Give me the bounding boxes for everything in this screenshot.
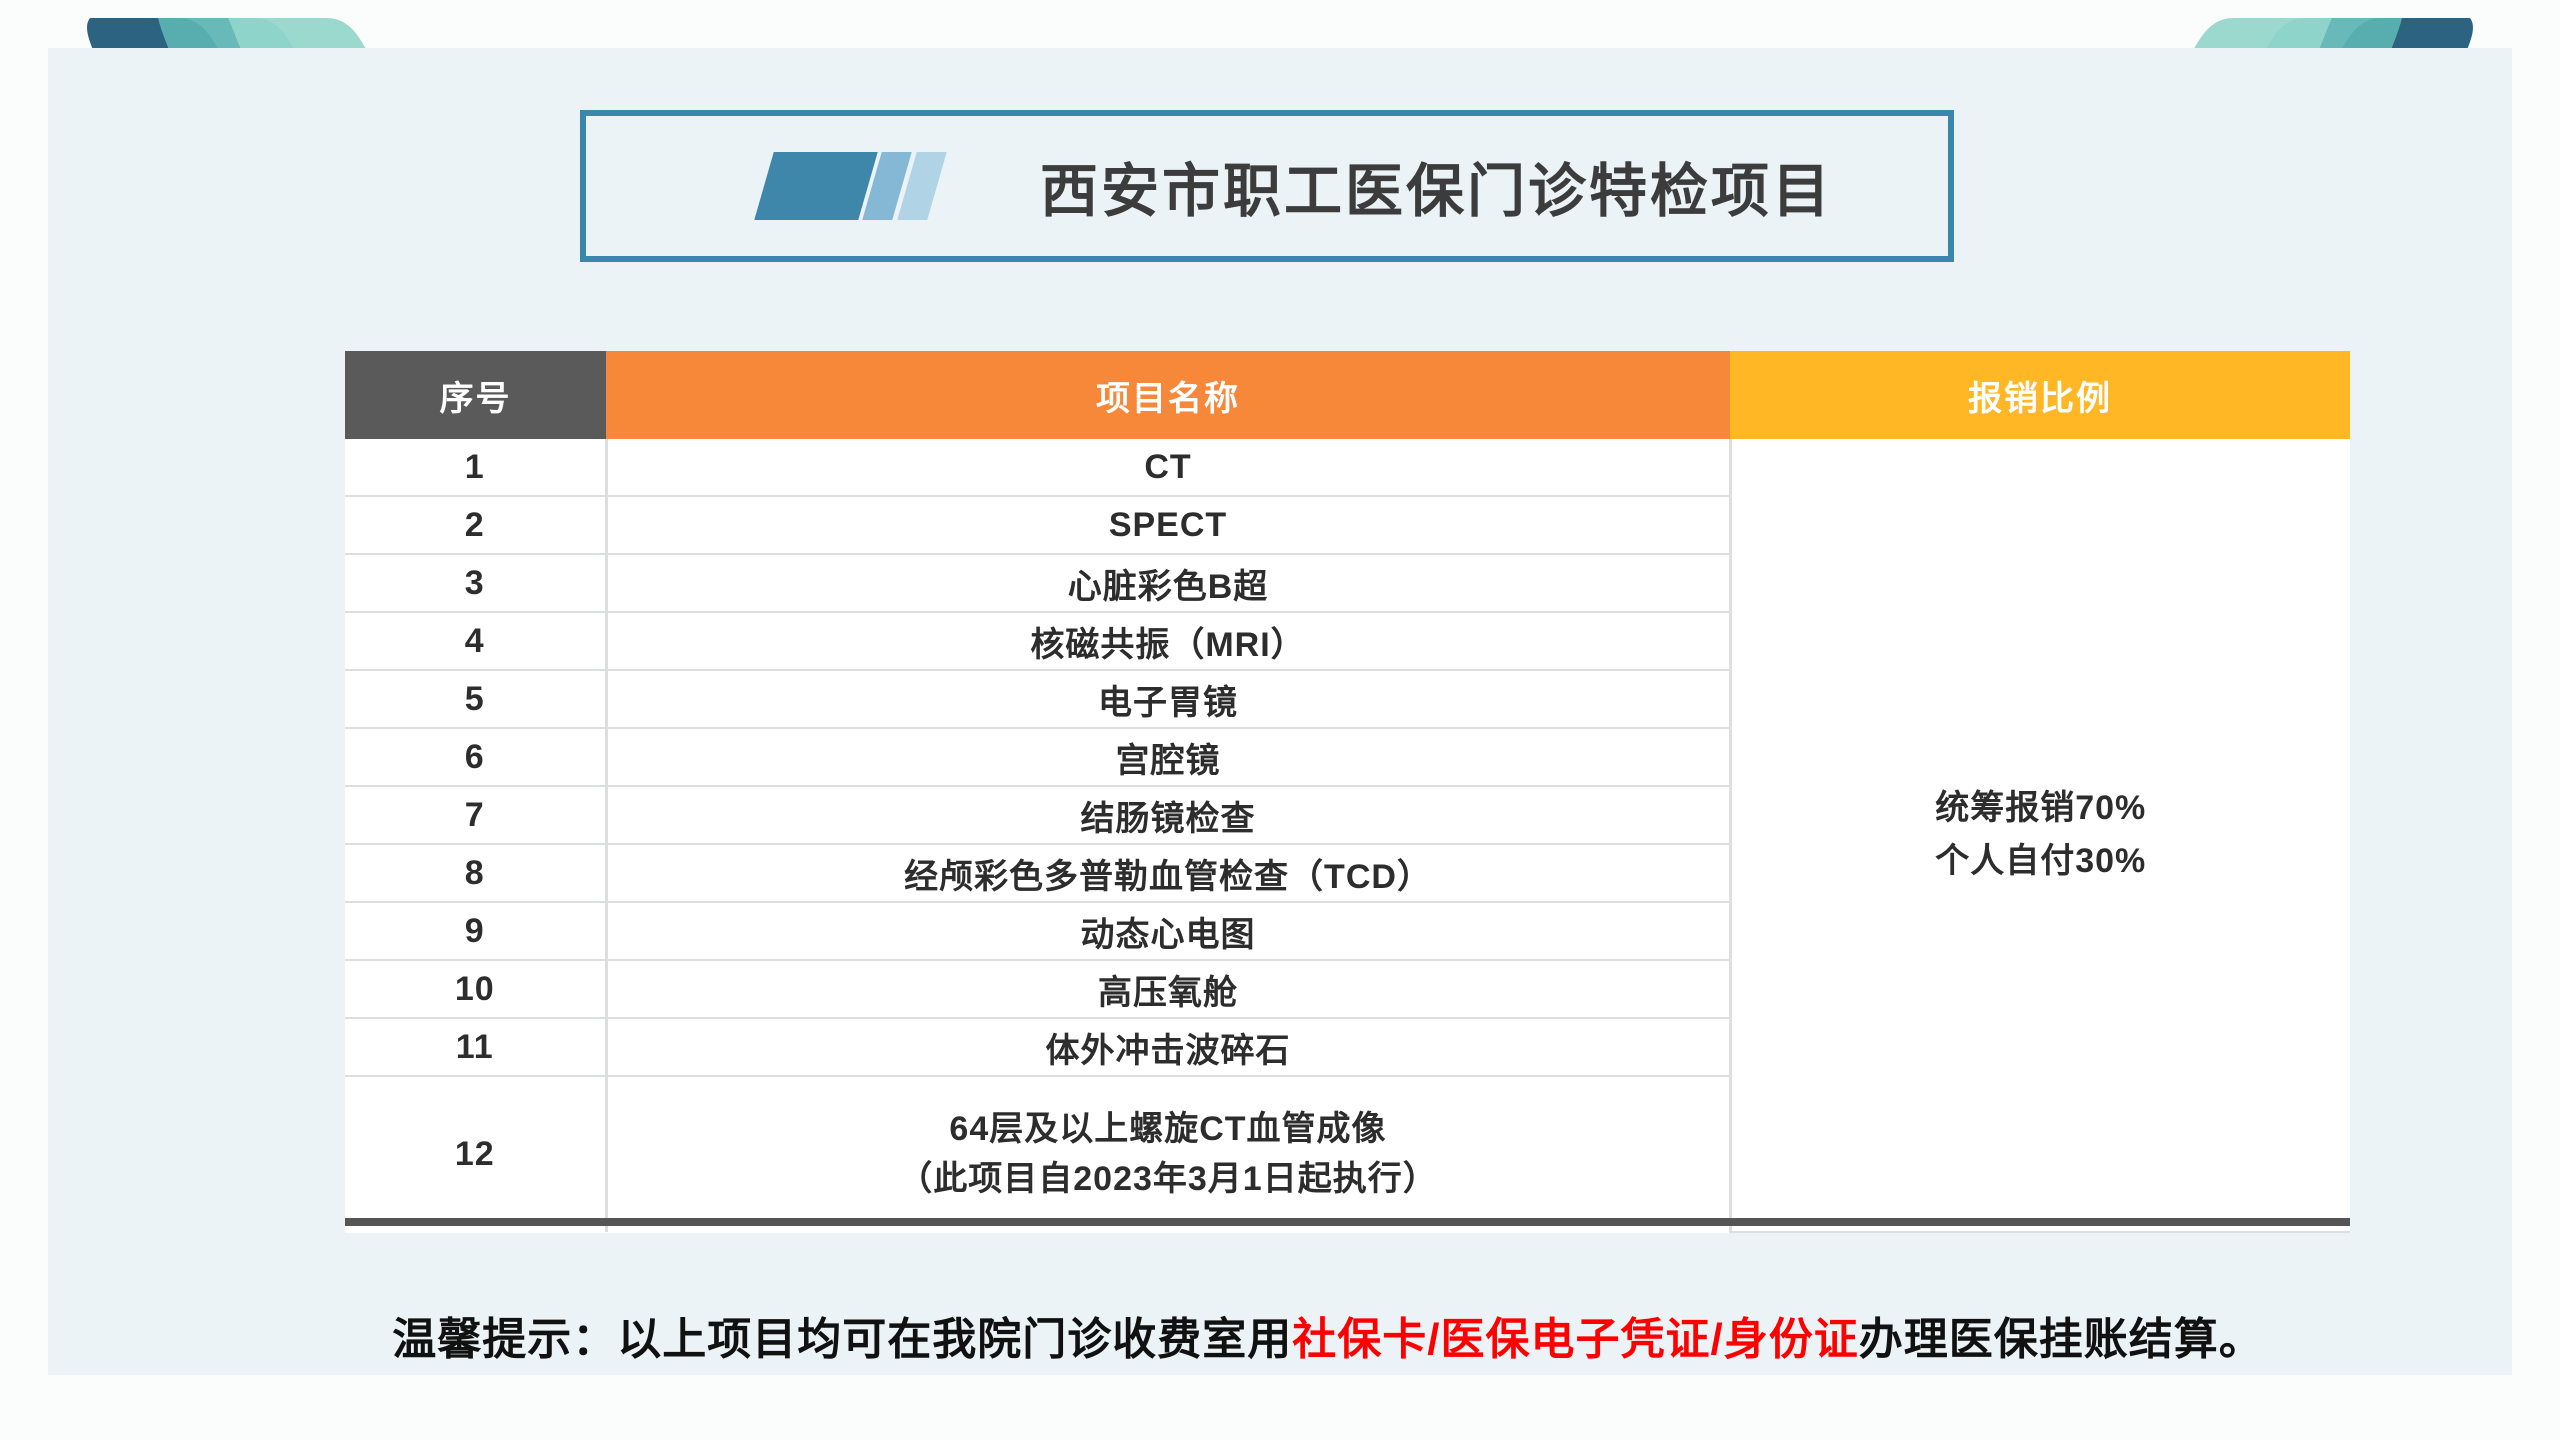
- cell-name: 高压氧舱: [606, 960, 1730, 1018]
- cell-name: CT: [606, 439, 1730, 496]
- cell-name-text: 64层及以上螺旋CT血管成像 （此项目自2023年3月1日起执行）: [608, 1105, 1729, 1204]
- cell-index: 7: [345, 786, 606, 844]
- spec-table: 序号 项目名称 报销比例 1 CT 统筹报销70% 个人自付30% 2 SPEC…: [345, 351, 2350, 1233]
- cell-index: 2: [345, 496, 606, 554]
- page-title: 西安市职工医保门诊特检项目: [1040, 144, 1833, 228]
- cell-name: 体外冲击波碎石: [606, 1018, 1730, 1076]
- content-panel: 西安市职工医保门诊特检项目 序号 项目名称 报销比例 1 CT 统筹报销70% …: [48, 48, 2512, 1375]
- title-decoration-icon: [764, 152, 954, 220]
- footer-notice: 温馨提示：以上项目均可在我院门诊收费室用社保卡/医保电子凭证/身份证办理医保挂账…: [48, 1303, 2560, 1367]
- table-row: 1 CT 统筹报销70% 个人自付30%: [345, 439, 2350, 496]
- title-mark-dark: [754, 152, 877, 220]
- cell-index: 5: [345, 670, 606, 728]
- table-header-row: 序号 项目名称 报销比例: [345, 351, 2350, 439]
- notice-suffix: 办理医保挂账结算。: [1859, 1315, 2264, 1364]
- cell-index: 9: [345, 902, 606, 960]
- column-header-rate: 报销比例: [1730, 351, 2350, 439]
- cell-name: 宫腔镜: [606, 728, 1730, 786]
- cell-name: 电子胃镜: [606, 670, 1730, 728]
- spec-table-wrapper: 序号 项目名称 报销比例 1 CT 统筹报销70% 个人自付30% 2 SPEC…: [345, 351, 2350, 1233]
- notice-prefix: 温馨提示：以上项目均可在我院门诊收费室用: [392, 1315, 1292, 1364]
- cell-index: 6: [345, 728, 606, 786]
- cell-index: 11: [345, 1018, 606, 1076]
- cell-name: SPECT: [606, 496, 1730, 554]
- cell-name: 动态心电图: [606, 902, 1730, 960]
- cell-name: 核磁共振（MRI）: [606, 612, 1730, 670]
- column-header-index: 序号: [345, 351, 606, 439]
- cell-index: 1: [345, 439, 606, 496]
- notice-highlight: 社保卡/医保电子凭证/身份证: [1292, 1315, 1858, 1364]
- cell-reimbursement-rate: 统筹报销70% 个人自付30%: [1730, 439, 2350, 1232]
- cell-name: 结肠镜检查: [606, 786, 1730, 844]
- cell-name: 64层及以上螺旋CT血管成像 （此项目自2023年3月1日起执行）: [606, 1076, 1730, 1232]
- column-header-name: 项目名称: [606, 351, 1730, 439]
- cell-name: 心脏彩色B超: [606, 554, 1730, 612]
- cell-index: 3: [345, 554, 606, 612]
- cell-index: 4: [345, 612, 606, 670]
- page-title-box: 西安市职工医保门诊特检项目: [580, 110, 1954, 262]
- cell-name: 经颅彩色多普勒血管检查（TCD）: [606, 844, 1730, 902]
- cell-index: 8: [345, 844, 606, 902]
- cell-index: 12: [345, 1076, 606, 1232]
- cell-index: 10: [345, 960, 606, 1018]
- table-bottom-rule: [345, 1218, 2350, 1226]
